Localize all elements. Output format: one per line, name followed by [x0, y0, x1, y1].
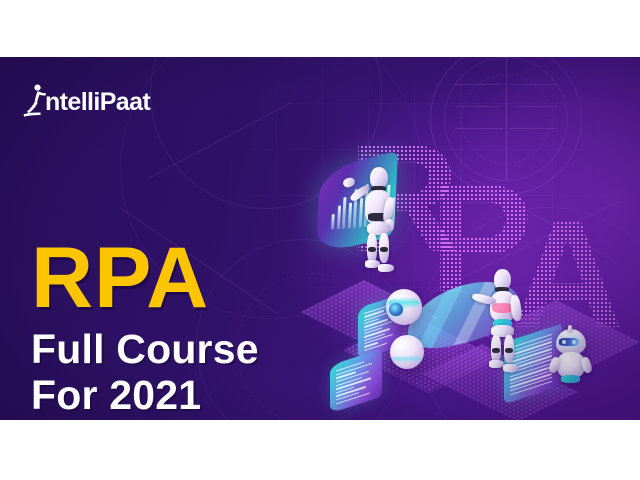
- subtitle-line-2: For 2021: [31, 373, 259, 419]
- subtitle-line-1: Full Course: [31, 327, 259, 373]
- page-title: RPA: [31, 239, 259, 318]
- intellipaat-logo[interactable]: ntelliPaat: [22, 83, 150, 117]
- logo-wordmark: ntelliPaat: [45, 90, 150, 117]
- course-banner: R P A: [0, 57, 640, 420]
- page-root: R P A: [0, 0, 640, 480]
- person-figure-icon: [22, 83, 48, 117]
- headline-block: RPA Full Course For 2021: [31, 239, 259, 419]
